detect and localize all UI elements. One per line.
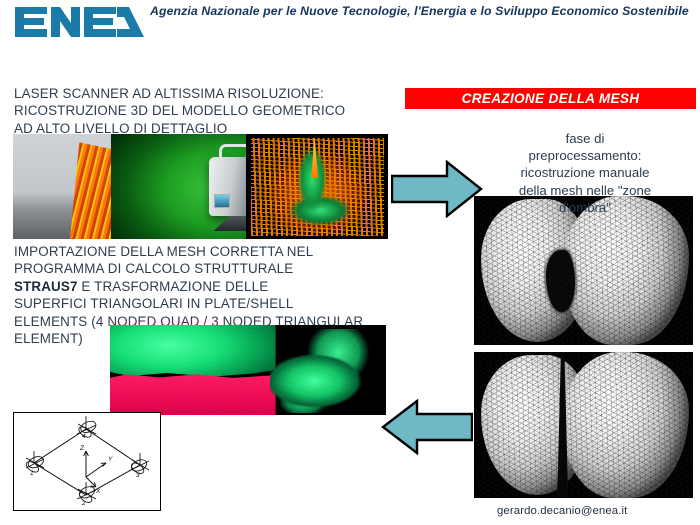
axis-label-x: X (95, 488, 101, 495)
node-label-4: 4 (82, 433, 86, 440)
left-text-block-laserscanner: LASER SCANNER AD ALTISSIMA RISOLUZIONE: … (14, 85, 394, 137)
pointcloud-render (251, 138, 384, 236)
plate-shell-element-diagram: Z Y X 2 4 1 3 (13, 412, 161, 511)
laser-scanner-image (13, 134, 388, 239)
straus7-text-part1: IMPORTAZIONE DELLA MESH CORRETTA NEL PRO… (14, 244, 313, 276)
preprocessing-caption: fase di preprocessamento: ricostruzione … (478, 130, 692, 216)
node-label-3: 3 (136, 472, 140, 479)
mesh-image-corrected (474, 352, 693, 498)
organisation-title: Agenzia Nazionale per le Nuove Tecnologi… (150, 4, 695, 20)
banner-label: CREAZIONE DELLA MESH (462, 91, 640, 106)
node-label-1: 1 (30, 470, 34, 477)
shadow-zone-hole (546, 250, 574, 313)
arrow-right-icon (391, 160, 483, 218)
slide-canvas: Agenzia Nazionale per le Nuove Tecnologi… (0, 0, 700, 525)
model-mesh-texture (110, 325, 386, 415)
finite-element-model-image (110, 325, 386, 415)
arrow-left-icon (381, 399, 473, 455)
scanner-screen (214, 194, 230, 208)
axis-label-z: Z (79, 445, 85, 452)
city-pointcloud-panel (246, 134, 389, 239)
node-label-2: 2 (81, 500, 86, 507)
creazione-mesh-banner: CREAZIONE DELLA MESH (405, 88, 696, 109)
axis-label-y: Y (108, 456, 113, 463)
slide-header: Agenzia Nazionale per le Nuove Tecnologi… (0, 0, 700, 62)
enea-logo (13, 3, 145, 45)
straus7-keyword: STRAUS7 (14, 279, 78, 294)
contact-email[interactable]: gerardo.decanio@enea.it (497, 505, 627, 517)
mesh-image-with-shadow-zone (474, 196, 693, 345)
